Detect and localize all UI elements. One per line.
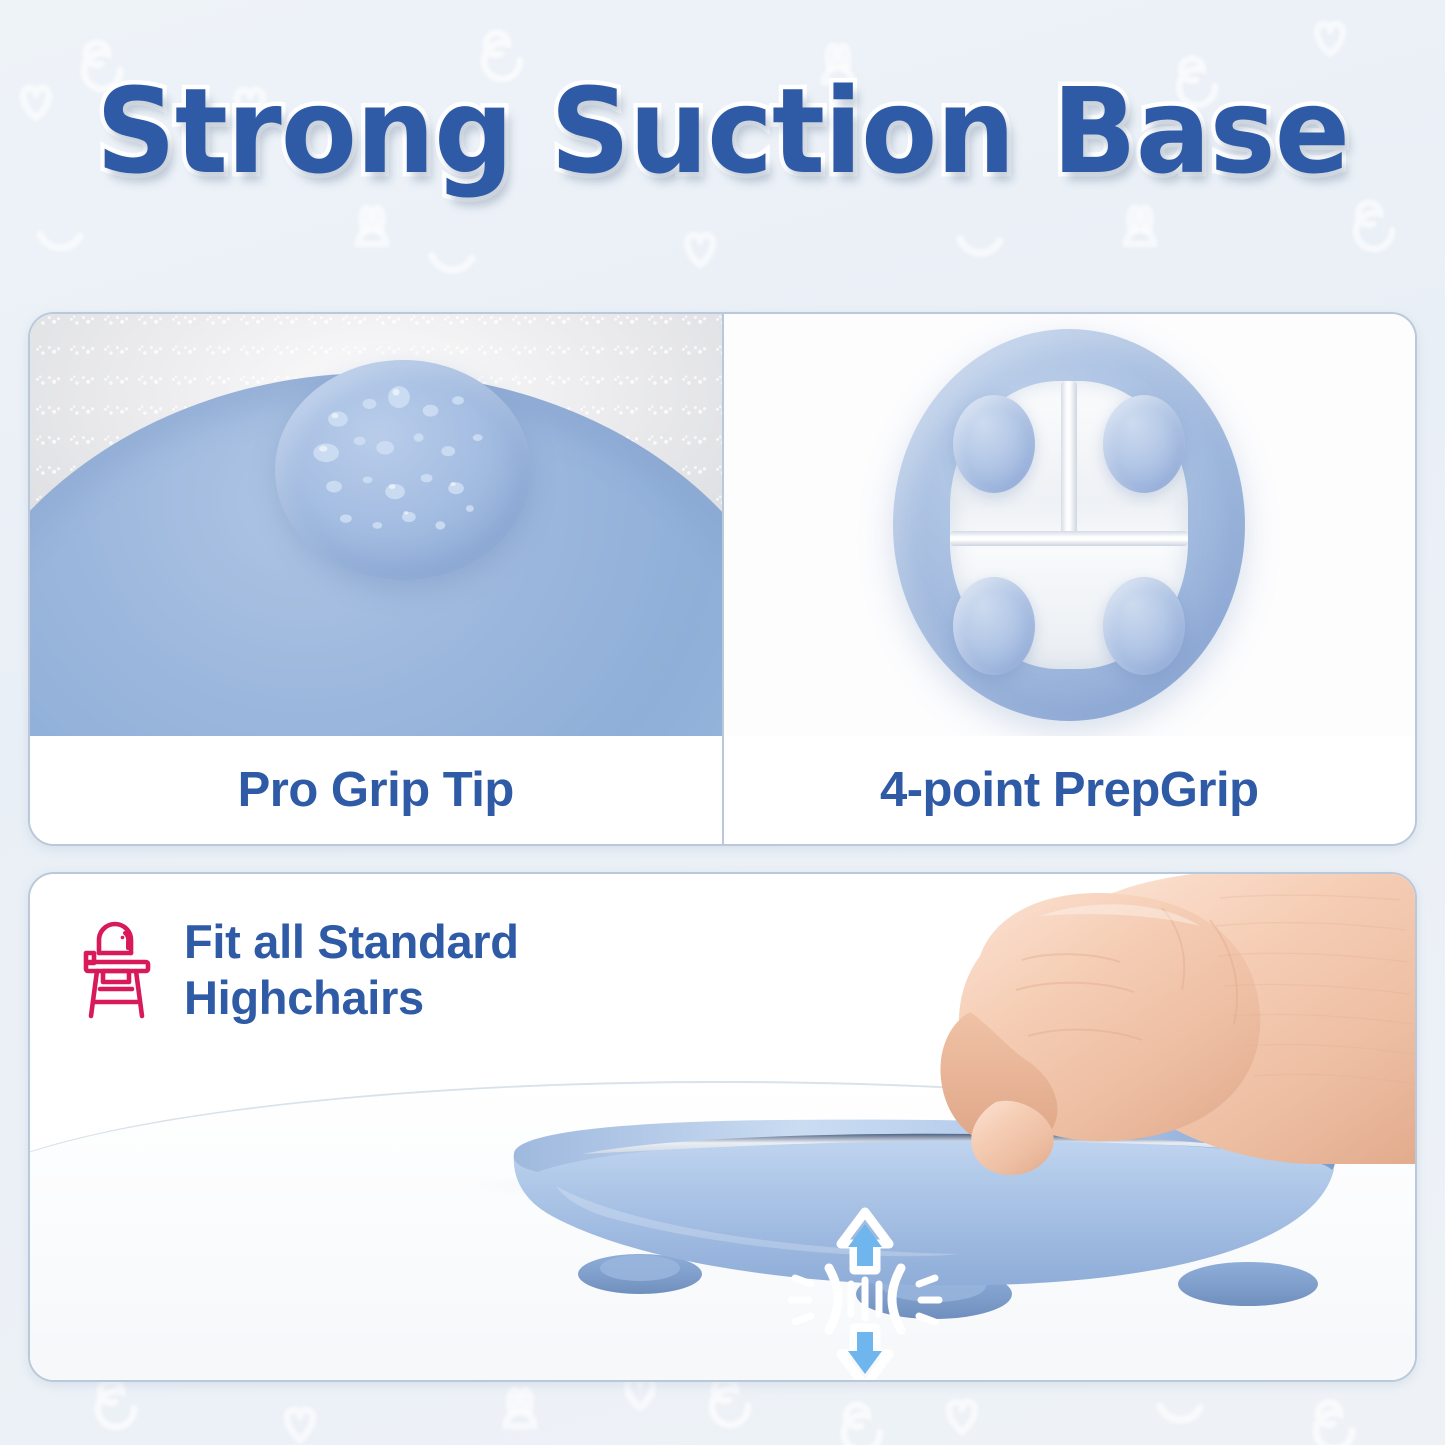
feature-card-label: 4-point PrepGrip (724, 736, 1416, 844)
water-droplets-overlay (275, 360, 531, 579)
hand-lifting-bowl-photo: Fit all Standard Highchairs (30, 874, 1415, 1380)
bottom-feature-panel: Fit all Standard Highchairs (28, 872, 1417, 1382)
suction-pad-bottom-right (1103, 577, 1185, 675)
highchair-feature-row: Fit all Standard Highchairs (78, 914, 519, 1027)
product-feature-poster: Strong Suction Base (0, 0, 1445, 1445)
feature-card-label: Pro Grip Tip (30, 736, 722, 844)
suction-pad-bottom-left (953, 577, 1035, 675)
highchair-feature-text: Fit all Standard Highchairs (184, 914, 519, 1027)
bowl-underside-photo (724, 314, 1416, 736)
suction-cup-closeup-photo (30, 314, 722, 736)
suction-force-icon (785, 1204, 945, 1380)
suction-pad-top-left (953, 395, 1035, 493)
headline-container: Strong Suction Base (0, 72, 1445, 190)
page-title: Strong Suction Base (96, 72, 1349, 190)
feature-card-prepgrip: 4-point PrepGrip (722, 314, 1416, 844)
highchair-icon (78, 920, 156, 1025)
photo-backdrop (724, 314, 1416, 736)
silicone-base-ring (893, 329, 1245, 721)
suction-cup-shape (275, 360, 531, 579)
top-feature-panel: Pro Grip Tip 4-point PrepGrip (28, 312, 1417, 846)
suction-pad-top-right (1103, 395, 1185, 493)
feature-card-pro-grip-tip: Pro Grip Tip (30, 314, 722, 844)
